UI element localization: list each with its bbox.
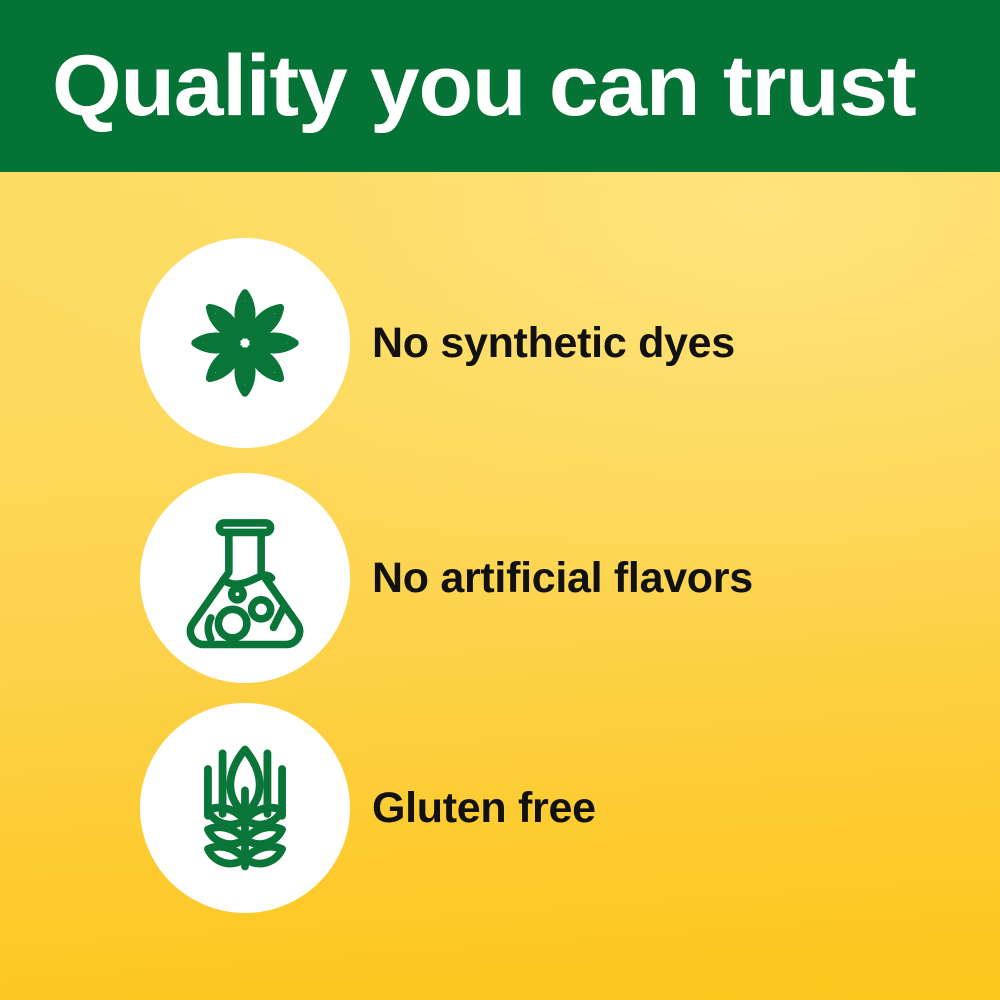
- header-band: Quality you can trust: [0, 0, 1000, 172]
- wheat-stalk-icon: [167, 730, 323, 886]
- erlenmeyer-flask-icon: [169, 502, 321, 654]
- feature-row: No synthetic dyes: [140, 238, 940, 448]
- feature-list: No synthetic dyes: [0, 172, 1000, 1000]
- dye-splatter-icon: [165, 263, 325, 423]
- feature-badge-circle: [140, 703, 350, 913]
- feature-label: No synthetic dyes: [372, 318, 735, 368]
- page-title: Quality you can trust: [52, 36, 998, 136]
- feature-badge-circle: [140, 238, 350, 448]
- feature-row: No artificial flavors: [140, 473, 940, 683]
- feature-badge-circle: [140, 473, 350, 683]
- quality-claims-poster: Quality you can trust: [0, 0, 1000, 1000]
- feature-row: Gluten free: [140, 703, 940, 913]
- feature-label: No artificial flavors: [372, 553, 753, 603]
- feature-label: Gluten free: [372, 783, 596, 833]
